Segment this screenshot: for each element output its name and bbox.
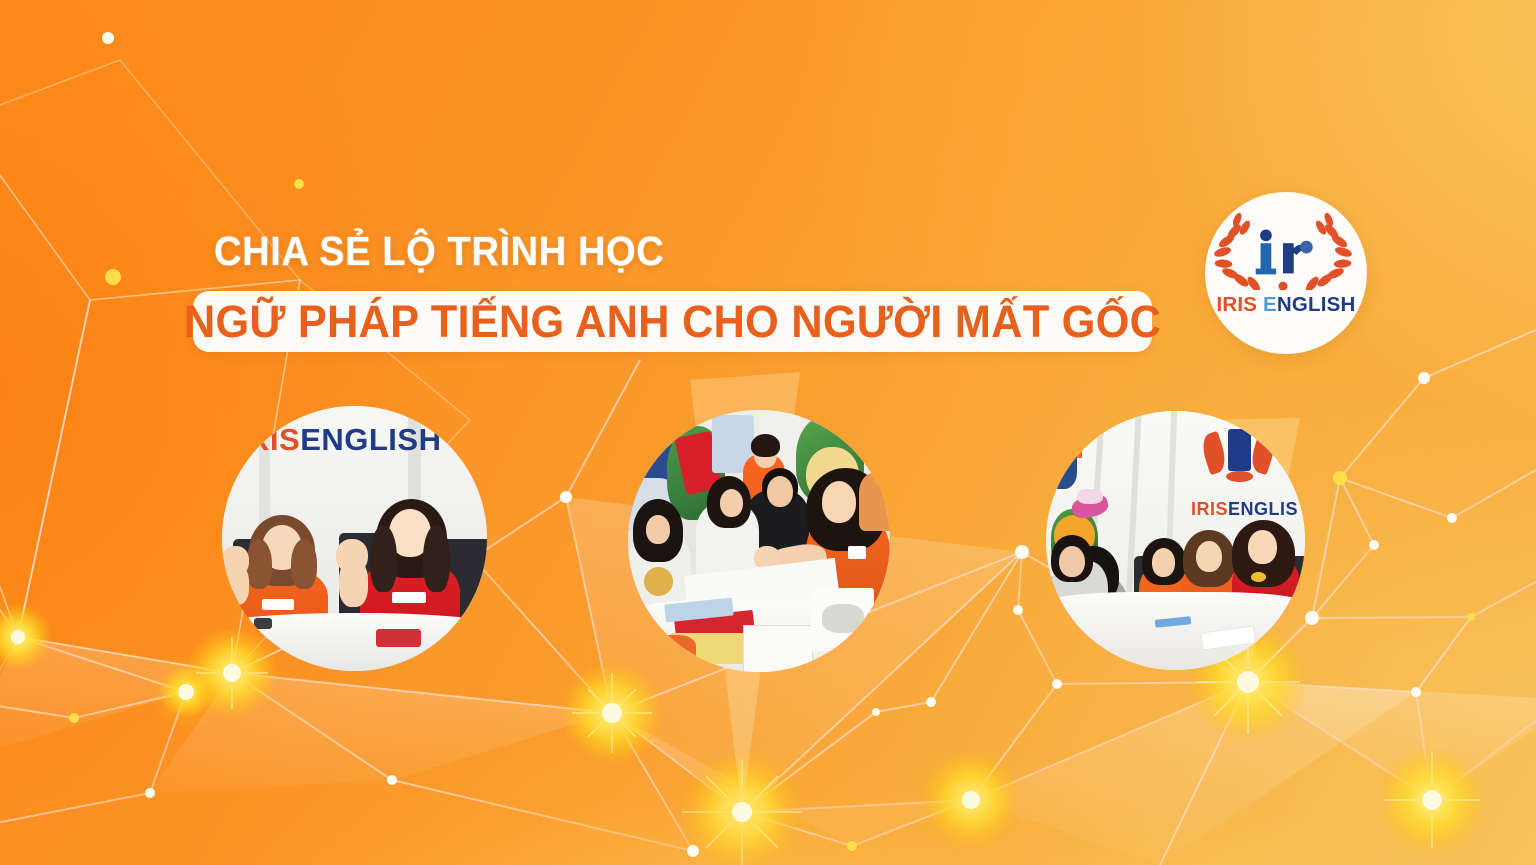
particle-dot bbox=[1467, 613, 1475, 621]
logo-wordmark: IRIS ENGLISH bbox=[1205, 293, 1367, 317]
particle-dot bbox=[69, 713, 79, 723]
particle-dot bbox=[926, 697, 936, 707]
particle-dot bbox=[687, 845, 699, 857]
promo-banner: IRISENGLISH bbox=[0, 0, 1536, 865]
photo-consultation-desk: IRISENGLIS bbox=[1046, 411, 1305, 670]
particle-dot bbox=[847, 841, 857, 851]
photo1-signage: IRISENGLISH bbox=[238, 422, 442, 458]
particle-dot bbox=[872, 708, 880, 716]
particle-dot bbox=[1015, 545, 1029, 559]
network-node-dot bbox=[962, 791, 980, 809]
network-node-dot bbox=[1422, 790, 1442, 810]
photo-consultants-waving: IRISENGLISH bbox=[222, 406, 487, 671]
photo3-wall-logo bbox=[1201, 427, 1279, 494]
network-node-dot bbox=[732, 802, 752, 822]
particle-dot bbox=[294, 179, 304, 189]
particle-dot bbox=[1052, 679, 1062, 689]
particle-dot bbox=[1013, 605, 1023, 615]
particle-dot bbox=[560, 491, 572, 503]
particle-dot bbox=[1418, 372, 1430, 384]
particle-dot bbox=[145, 788, 155, 798]
particle-dot bbox=[1333, 471, 1347, 485]
kicker-text: CHIA SẺ LỘ TRÌNH HỌC bbox=[214, 228, 664, 275]
photo1-red-card bbox=[376, 629, 421, 648]
photo-students-at-counter bbox=[628, 410, 890, 672]
network-node-dot bbox=[1237, 671, 1259, 693]
particle-dot bbox=[1305, 611, 1319, 625]
laurel-wreath-icon bbox=[1205, 212, 1361, 290]
network-node-dot bbox=[178, 684, 194, 700]
network-node-dot bbox=[11, 630, 25, 644]
photo3-signage: IRISENGLIS bbox=[1191, 499, 1298, 520]
particle-dot bbox=[1447, 513, 1457, 523]
network-node-dot bbox=[602, 703, 622, 723]
particle-dot bbox=[1411, 687, 1421, 697]
page-title: NGỮ PHÁP TIẾNG ANH CHO NGƯỜI MẤT GỐC bbox=[210, 291, 1135, 352]
particle-dot bbox=[105, 269, 121, 285]
title-banner: NGỮ PHÁP TIẾNG ANH CHO NGƯỜI MẤT GỐC bbox=[193, 291, 1152, 352]
particle-dot bbox=[102, 32, 114, 44]
iris-english-logo: IRIS ENGLISH bbox=[1205, 192, 1367, 354]
particle-dot bbox=[1369, 540, 1379, 550]
particle-dot bbox=[387, 775, 397, 785]
